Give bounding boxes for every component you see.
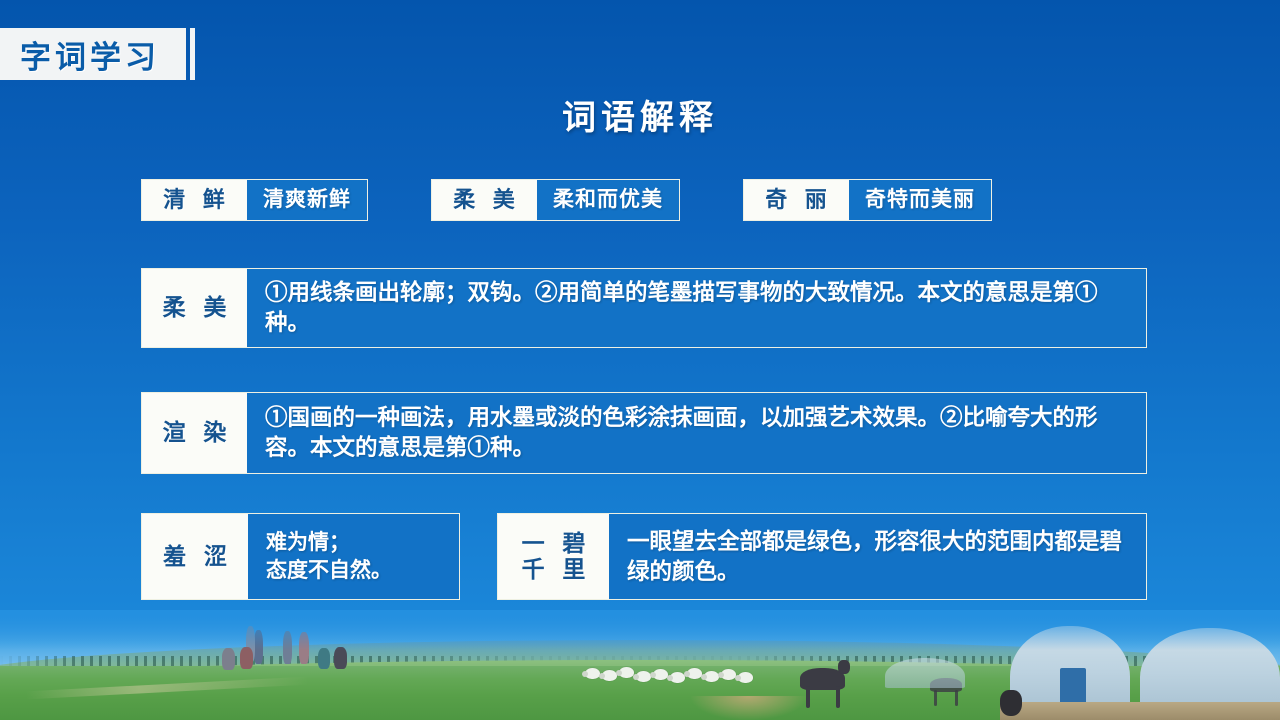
- vocabulary-row-1: 清 鲜 清爽新鲜 柔 美 柔和而优美 奇 丽 奇特而美丽: [141, 179, 992, 221]
- page-title: 词语解释: [0, 90, 1280, 139]
- vocabulary-entry: 清 鲜 清爽新鲜: [141, 179, 368, 221]
- vocabulary-definition: 奇特而美丽: [849, 180, 991, 220]
- slide-canvas: 字词学习 词语解释 清 鲜 清爽新鲜 柔 美 柔和而优美 奇 丽 奇特而美丽 柔…: [0, 0, 1280, 720]
- section-banner-label: 字词学习: [20, 32, 160, 77]
- vocabulary-entry: 奇 丽 奇特而美丽: [743, 179, 992, 221]
- vocabulary-term: 奇 丽: [744, 180, 849, 220]
- row-spacer: [680, 179, 743, 221]
- photo-person-seated: [318, 648, 330, 669]
- vocabulary-term: 柔 美: [142, 269, 247, 347]
- vocabulary-entry: 柔 美 ①用线条画出轮廓；双钩。②用简单的笔墨描写事物的大致情况。本文的意思是第…: [141, 268, 1147, 348]
- photo-pot: [1000, 690, 1022, 716]
- row-spacer: [460, 513, 497, 600]
- photo-sheep: [585, 668, 600, 679]
- vocabulary-term: 渲 染: [142, 393, 247, 473]
- vocabulary-term-line: 千 里: [522, 557, 592, 583]
- photo-person-seated: [240, 647, 253, 669]
- section-banner: 字词学习: [0, 28, 195, 80]
- photo-sheep: [670, 672, 685, 683]
- photo-sheep: [602, 670, 617, 681]
- vocabulary-term: 一 碧 千 里: [498, 514, 609, 599]
- vocabulary-row-2: 柔 美 ①用线条画出轮廓；双钩。②用简单的笔墨描写事物的大致情况。本文的意思是第…: [141, 268, 1147, 348]
- vocabulary-definition: ①用线条画出轮廓；双钩。②用简单的笔墨描写事物的大致情况。本文的意思是第①种。: [247, 269, 1146, 347]
- photo-horse-leg: [955, 690, 958, 706]
- section-banner-accent-bar: [190, 28, 195, 80]
- vocabulary-definition: ①国画的一种画法，用水墨或淡的色彩涂抹画面，以加强艺术效果。②比喻夸大的形容。本…: [247, 393, 1146, 473]
- photo-sheep: [738, 672, 753, 683]
- vocabulary-entry: 渲 染 ①国画的一种画法，用水墨或淡的色彩涂抹画面，以加强艺术效果。②比喻夸大的…: [141, 392, 1147, 474]
- photo-person-seated: [222, 648, 235, 670]
- photo-sheep: [636, 671, 651, 682]
- photo-sheep: [653, 669, 668, 680]
- photo-top-fade: [0, 610, 1280, 650]
- vocabulary-definition: 一眼望去全部都是绿色，形容很大的范围内都是碧绿的颜色。: [609, 514, 1146, 599]
- photo-sheep: [619, 667, 634, 678]
- photo-sheep: [704, 671, 719, 682]
- footer-grassland-photo: [0, 610, 1280, 720]
- vocabulary-term-line: 一 碧: [522, 531, 592, 557]
- vocabulary-row-3: 渲 染 ①国画的一种画法，用水墨或淡的色彩涂抹画面，以加强艺术效果。②比喻夸大的…: [141, 392, 1147, 474]
- photo-wall: [1000, 702, 1280, 720]
- vocabulary-definition: 难为情； 态度不自然。: [248, 514, 459, 599]
- photo-sheep: [721, 669, 736, 680]
- photo-horse-head: [838, 660, 850, 674]
- vocabulary-definition: 柔和而优美: [537, 180, 679, 220]
- vocabulary-row-4: 羞 涩 难为情； 态度不自然。 一 碧 千 里 一眼望去全部都是绿色，形容很大的…: [141, 513, 1147, 600]
- section-banner-box: 字词学习: [0, 28, 186, 80]
- vocabulary-entry: 一 碧 千 里 一眼望去全部都是绿色，形容很大的范围内都是碧绿的颜色。: [497, 513, 1147, 600]
- vocabulary-term: 羞 涩: [142, 514, 248, 599]
- vocabulary-entry: 柔 美 柔和而优美: [431, 179, 680, 221]
- vocabulary-definition: 清爽新鲜: [247, 180, 367, 220]
- vocabulary-term: 柔 美: [432, 180, 537, 220]
- photo-dirt-path: [691, 696, 806, 720]
- photo-sheep: [687, 668, 702, 679]
- vocabulary-term: 清 鲜: [142, 180, 247, 220]
- photo-person-seated: [334, 647, 347, 669]
- vocabulary-definition-line: 态度不自然。: [266, 557, 392, 585]
- vocabulary-entry: 羞 涩 难为情； 态度不自然。: [141, 513, 460, 600]
- photo-horse-leg: [934, 690, 937, 706]
- photo-yurt-far: [885, 658, 965, 688]
- row-spacer: [368, 179, 431, 221]
- photo-horse-leg: [836, 686, 840, 708]
- vocabulary-definition-line: 难为情；: [266, 529, 392, 557]
- photo-horse-leg: [806, 686, 810, 708]
